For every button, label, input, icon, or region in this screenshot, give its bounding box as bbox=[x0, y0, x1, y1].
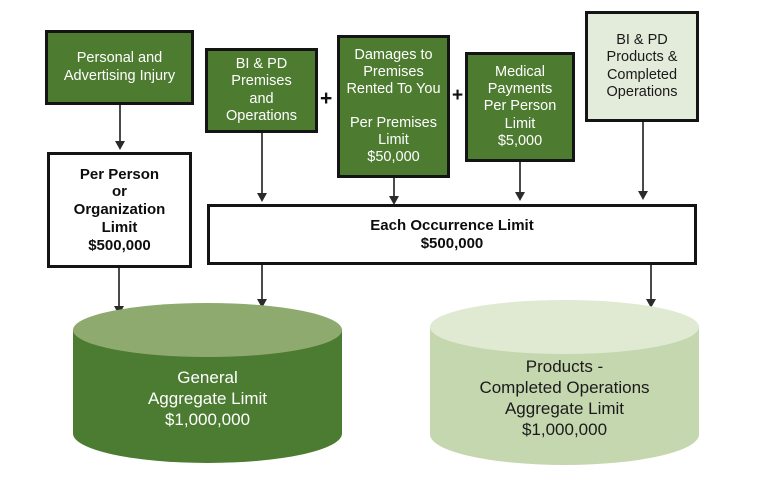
coverage-box-bi-pd-premises-operations[interactable]: BI & PD Premises and Operations bbox=[205, 48, 318, 133]
coverage-box-label: Personal and Advertising Injury bbox=[64, 50, 175, 84]
coverage-box-bi-pd-products-completed-operations[interactable]: BI & PD Products & Completed Operations bbox=[585, 11, 699, 122]
arrow-head-premises-to-occurrence bbox=[257, 193, 267, 202]
connector-line-premises-to-occurrence bbox=[261, 133, 263, 195]
limit-box-label: Each Occurrence Limit $500,000 bbox=[370, 217, 533, 252]
limit-box-each-occurrence[interactable]: Each Occurrence Limit $500,000 bbox=[207, 204, 697, 265]
plus-operator-1: + bbox=[320, 88, 332, 109]
coverage-box-personal-advertising-injury[interactable]: Personal and Advertising Injury bbox=[45, 30, 194, 105]
coverage-box-label: BI & PD Premises and Operations bbox=[226, 56, 297, 124]
connector-line-occurrence-to-general-aggregate bbox=[261, 265, 263, 301]
coverage-box-label: Damages to Premises Rented To You Per Pr… bbox=[346, 47, 440, 167]
limit-box-per-person-or-organization[interactable]: Per Person or Organization Limit $500,00… bbox=[47, 152, 192, 268]
coverage-box-medical-payments[interactable]: Medical Payments Per Person Limit $5,000 bbox=[465, 52, 575, 162]
diagram-canvas: Personal and Advertising Injury BI & PD … bbox=[0, 0, 768, 488]
arrow-head-products-to-occurrence bbox=[638, 191, 648, 200]
limit-box-label: Per Person or Organization Limit $500,00… bbox=[74, 166, 166, 254]
connector-line-medpay-to-occurrence bbox=[519, 162, 521, 195]
aggregate-cylinder-general[interactable]: General Aggregate Limit $1,000,000 bbox=[73, 303, 342, 463]
plus-symbol: + bbox=[452, 85, 463, 106]
plus-symbol: + bbox=[320, 87, 332, 110]
coverage-box-damages-to-premises-rented[interactable]: Damages to Premises Rented To You Per Pr… bbox=[337, 35, 450, 178]
aggregate-cylinder-products-completed-operations[interactable]: Products - Completed Operations Aggregat… bbox=[430, 300, 699, 465]
connector-line-products-to-occurrence bbox=[642, 122, 644, 194]
connector-line-pai-to-perperson bbox=[119, 105, 121, 143]
coverage-box-label: BI & PD Products & Completed Operations bbox=[607, 32, 678, 100]
plus-operator-2: + bbox=[452, 86, 463, 105]
arrow-head-pai-to-perperson bbox=[115, 141, 125, 150]
cylinder-top-ellipse bbox=[430, 300, 699, 354]
cylinder-top-ellipse bbox=[73, 303, 342, 357]
arrow-head-medpay-to-occurrence bbox=[515, 192, 525, 201]
connector-line-perperson-to-general-aggregate bbox=[118, 268, 120, 308]
connector-line-occurrence-to-products-aggregate bbox=[650, 265, 652, 301]
coverage-box-label: Medical Payments Per Person Limit $5,000 bbox=[484, 64, 557, 150]
